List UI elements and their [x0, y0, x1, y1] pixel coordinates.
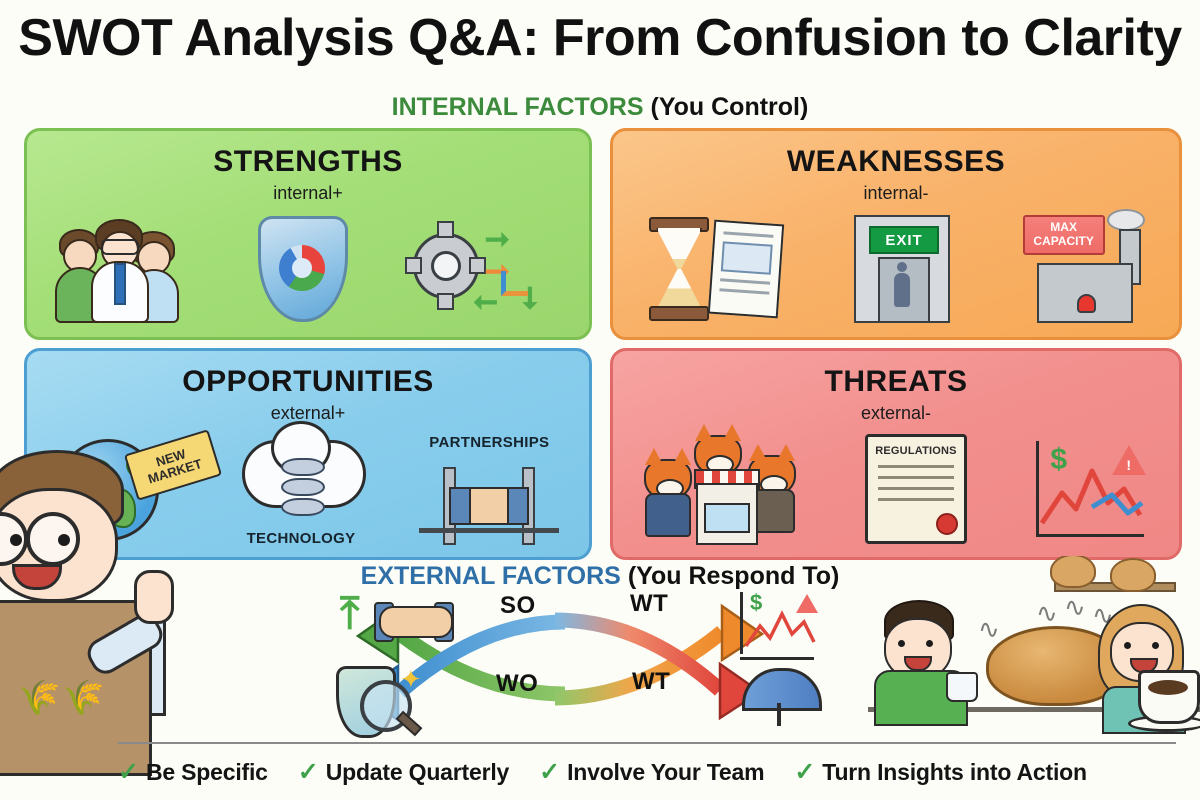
strategy-label-wt-bottom: WT — [632, 668, 670, 696]
footer-item-update-quarterly: ✓ Update Quarterly — [298, 759, 509, 786]
footer-text: Be Specific — [146, 759, 268, 786]
quadrant-threats[interactable]: THREATS external- — [610, 348, 1182, 560]
strategy-label-wo: WO — [496, 670, 538, 698]
competitor-foxes-icon — [644, 433, 804, 545]
footer-divider — [118, 742, 1176, 744]
mini-volatility-chart-icon: $ — [736, 592, 820, 660]
umbrella-icon — [742, 668, 816, 726]
internal-factors-band: INTERNAL FACTORS (You Control) — [0, 93, 1200, 122]
threats-subtitle: external- — [613, 403, 1179, 424]
bakery-scene: ∿ ∿ ∿ ∿ — [868, 556, 1200, 754]
footer-text: Turn Insights into Action — [822, 759, 1087, 786]
footer-text: Update Quarterly — [326, 759, 509, 786]
footer-item-be-specific: ✓ Be Specific — [118, 759, 268, 786]
threats-title: THREATS — [613, 365, 1179, 399]
threats-art-row: REGULATIONS $ ! — [613, 425, 1179, 553]
volatile-market-chart-icon: $ ! — [1028, 437, 1148, 541]
partnerships-label: PARTNERSHIPS — [429, 434, 549, 451]
paperwork-icon — [708, 220, 784, 319]
check-icon: ✓ — [298, 760, 319, 785]
team-icon — [57, 215, 197, 323]
cloud-technology-icon: TECHNOLOGY — [242, 432, 360, 547]
check-icon: ✓ — [794, 760, 815, 785]
page-title: SWOT Analysis Q&A: From Confusion to Cla… — [0, 8, 1200, 68]
coffee-cup-icon — [1138, 670, 1200, 724]
check-icon: ✓ — [118, 760, 139, 785]
footer-item-involve-your-team: ✓ Involve Your Team — [539, 759, 764, 786]
bread-bun-icon — [1110, 558, 1156, 592]
footer-item-turn-insights-into-action: ✓ Turn Insights into Action — [794, 759, 1087, 786]
magnifier-shield-icon: ✦ — [336, 662, 420, 742]
weaknesses-art-row: EXIT MAX CAPACITY — [613, 205, 1179, 333]
internal-factors-paren: (You Control) — [651, 93, 809, 121]
customer-with-cup — [874, 600, 968, 710]
shield-chart-icon — [258, 216, 348, 322]
exit-door-icon: EXIT — [854, 215, 950, 323]
weaknesses-title: WEAKNESSES — [613, 145, 1179, 179]
check-icon: ✓ — [539, 760, 560, 785]
quadrant-weaknesses[interactable]: WEAKNESSES internal- EXIT — [610, 128, 1182, 340]
opportunities-title: OPPORTUNITIES — [27, 365, 589, 399]
footer-checklist: ✓ Be Specific ✓ Update Quarterly ✓ Invol… — [118, 752, 1180, 792]
partnership-bridge-icon: PARTNERSHIPS — [419, 434, 559, 545]
strengths-title: STRENGTHS — [27, 145, 589, 179]
quadrant-strengths[interactable]: STRENGTHS internal+ — [24, 128, 592, 340]
bread-bun-icon — [1050, 556, 1096, 588]
exit-sign-label: EXIT — [869, 226, 939, 254]
internal-factors-label: INTERNAL FACTORS — [392, 93, 644, 121]
regulations-scroll-icon: REGULATIONS — [865, 434, 967, 544]
factory-capacity-icon: MAX CAPACITY — [1023, 215, 1143, 323]
swot-infographic: SWOT Analysis Q&A: From Confusion to Cla… — [0, 0, 1200, 800]
technology-label: TECHNOLOGY — [247, 530, 356, 547]
strategy-label-so: SO — [500, 592, 536, 620]
handshake-small-icon — [374, 598, 454, 642]
weaknesses-subtitle: internal- — [613, 183, 1179, 204]
hourglass-paperwork-icon — [649, 217, 781, 321]
footer-text: Involve Your Team — [567, 759, 764, 786]
max-capacity-label: MAX CAPACITY — [1023, 215, 1105, 255]
baker-character: 🌾 🌾 — [0, 450, 172, 770]
gear-process-icon: ➞ ➞ ➞ ➞ — [409, 213, 559, 325]
growth-arrow-icon: ⤒ — [340, 592, 359, 636]
regulations-label: REGULATIONS — [868, 445, 964, 457]
strengths-subtitle: internal+ — [27, 183, 589, 204]
strengths-art-row: ➞ ➞ ➞ ➞ — [27, 205, 589, 333]
strategy-label-wt-top: WT — [630, 590, 668, 618]
